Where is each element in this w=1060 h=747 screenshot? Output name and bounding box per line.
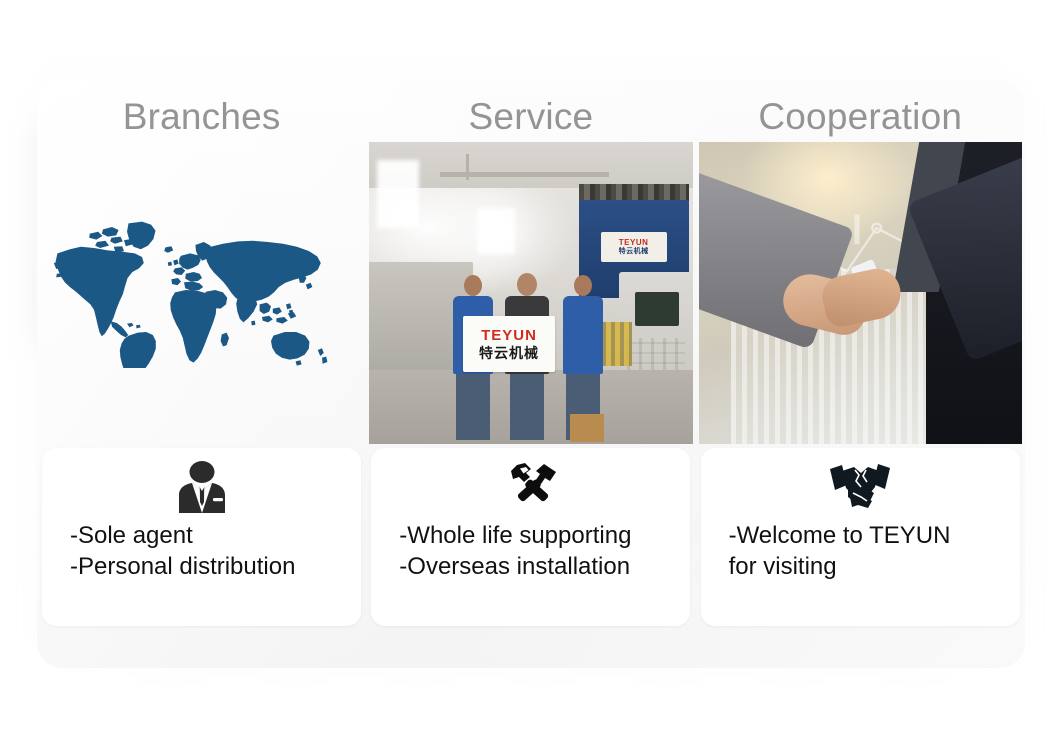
column-title-cooperation: Cooperation — [696, 94, 1025, 140]
card-line-2: -Overseas installation — [399, 551, 672, 582]
machine-brand-label: TEYUN 特云机械 — [601, 232, 667, 262]
media-branches — [37, 142, 366, 444]
column-title-service: Service — [366, 94, 695, 140]
column-title-branches: Branches — [37, 94, 366, 140]
teyun-banner: TEYUN 特云机械 — [463, 316, 555, 372]
card-line-1: -Welcome to TEYUN — [729, 520, 1002, 551]
media-cooperation — [696, 142, 1025, 444]
wrench-hammer-icon — [371, 458, 690, 516]
banner-text-en: TEYUN — [481, 327, 537, 344]
card-line-2: -Personal distribution — [70, 551, 343, 582]
card-line-1: -Whole life supporting — [399, 520, 672, 551]
card-line-2: for visiting — [729, 551, 1002, 582]
column-service[interactable]: Service TEYUN — [366, 80, 695, 668]
card-text-cooperation: -Welcome to TEYUN for visiting — [701, 520, 1020, 582]
media-service: TEYUN 特云机械 — [366, 142, 695, 444]
handshake-photo — [699, 142, 1022, 444]
column-cooperation[interactable]: Cooperation — [696, 80, 1025, 668]
world-map-illustration — [40, 142, 363, 444]
machine-brand-en: TEYUN — [619, 238, 649, 247]
card-line-1: -Sole agent — [70, 520, 343, 551]
card-text-branches: -Sole agent -Personal distribution — [42, 520, 361, 582]
card-service[interactable]: -Whole life supporting -Overseas install… — [371, 448, 690, 626]
factory-team-photo: TEYUN 特云机械 — [369, 142, 692, 444]
banner-text-cn: 特云机械 — [479, 344, 539, 362]
card-cooperation[interactable]: -Welcome to TEYUN for visiting — [701, 448, 1020, 626]
columns-container: Branches — [37, 80, 1025, 668]
slide-canvas: Branches — [0, 0, 1060, 747]
businessman-icon — [42, 458, 361, 516]
handshake-icon — [701, 458, 1020, 516]
machine-brand-cn: 特云机械 — [619, 247, 649, 256]
card-branches[interactable]: -Sole agent -Personal distribution — [42, 448, 361, 626]
features-panel: Branches — [37, 80, 1025, 668]
card-text-service: -Whole life supporting -Overseas install… — [371, 520, 690, 582]
column-branches[interactable]: Branches — [37, 80, 366, 668]
